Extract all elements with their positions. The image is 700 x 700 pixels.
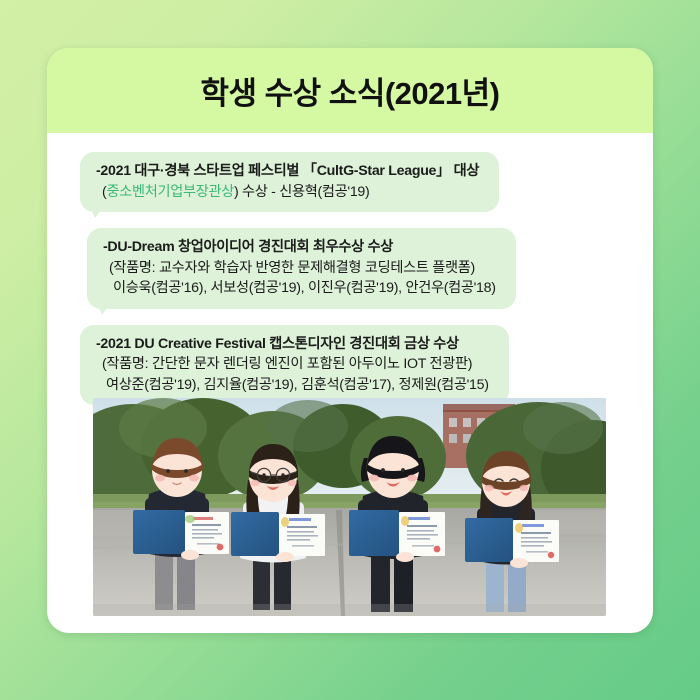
award-1-detail: (중소벤처기업부장관상) 수상 - 신용혁(컴공'19) [96,182,479,203]
card-header-band: 학생 수상 소식(2021년) [47,48,653,133]
award-bubble-1: -2021 대구·경북 스타트업 페스티벌 「CultG-Star League… [80,152,499,212]
award-3-detail: (작품명: 간단한 문자 렌더링 엔진이 포함된 아두이노 IOT 전광판) [96,354,489,375]
award-1-detail-suffix: ) 수상 - 신용혁(컴공'19) [234,184,369,200]
award-1-title: -2021 대구·경북 스타트업 페스티벌 「CultG-Star League… [96,161,479,182]
award-bubble-2: -DU-Dream 창업아이디어 경진대회 최우수상 수상 (작품명: 교수자와… [87,228,516,309]
award-item-3: -2021 DU Creative Festival 캡스톤디자인 경진대회 금… [80,325,653,406]
award-2-detail: (작품명: 교수자와 학습자 반영한 문제해결형 코딩테스트 플랫폼) [103,258,496,279]
page-title: 학생 수상 소식(2021년) [201,68,500,113]
award-item-1: -2021 대구·경북 스타트업 페스티벌 「CultG-Star League… [80,152,653,212]
award-2-title: -DU-Dream 창업아이디어 경진대회 최우수상 수상 [103,237,496,258]
award-photo-image [93,398,606,616]
award-2-members: 이승욱(컴공'16), 서보성(컴공'19), 이진우(컴공'19), 안건우(… [103,278,496,299]
award-card: 학생 수상 소식(2021년) -2021 대구·경북 스타트업 페스티벌 「C… [47,48,653,633]
award-3-members: 여상준(컴공'19), 김지율(컴공'19), 김훈석(컴공'17), 정제원(… [96,375,489,396]
award-3-title: -2021 DU Creative Festival 캡스톤디자인 경진대회 금… [96,334,489,355]
award-item-2: -DU-Dream 창업아이디어 경진대회 최우수상 수상 (작품명: 교수자와… [87,228,653,309]
award-1-detail-highlight: 중소벤처기업부장관상 [106,184,234,200]
award-photo [93,398,606,616]
award-bubble-3: -2021 DU Creative Festival 캡스톤디자인 경진대회 금… [80,325,509,406]
